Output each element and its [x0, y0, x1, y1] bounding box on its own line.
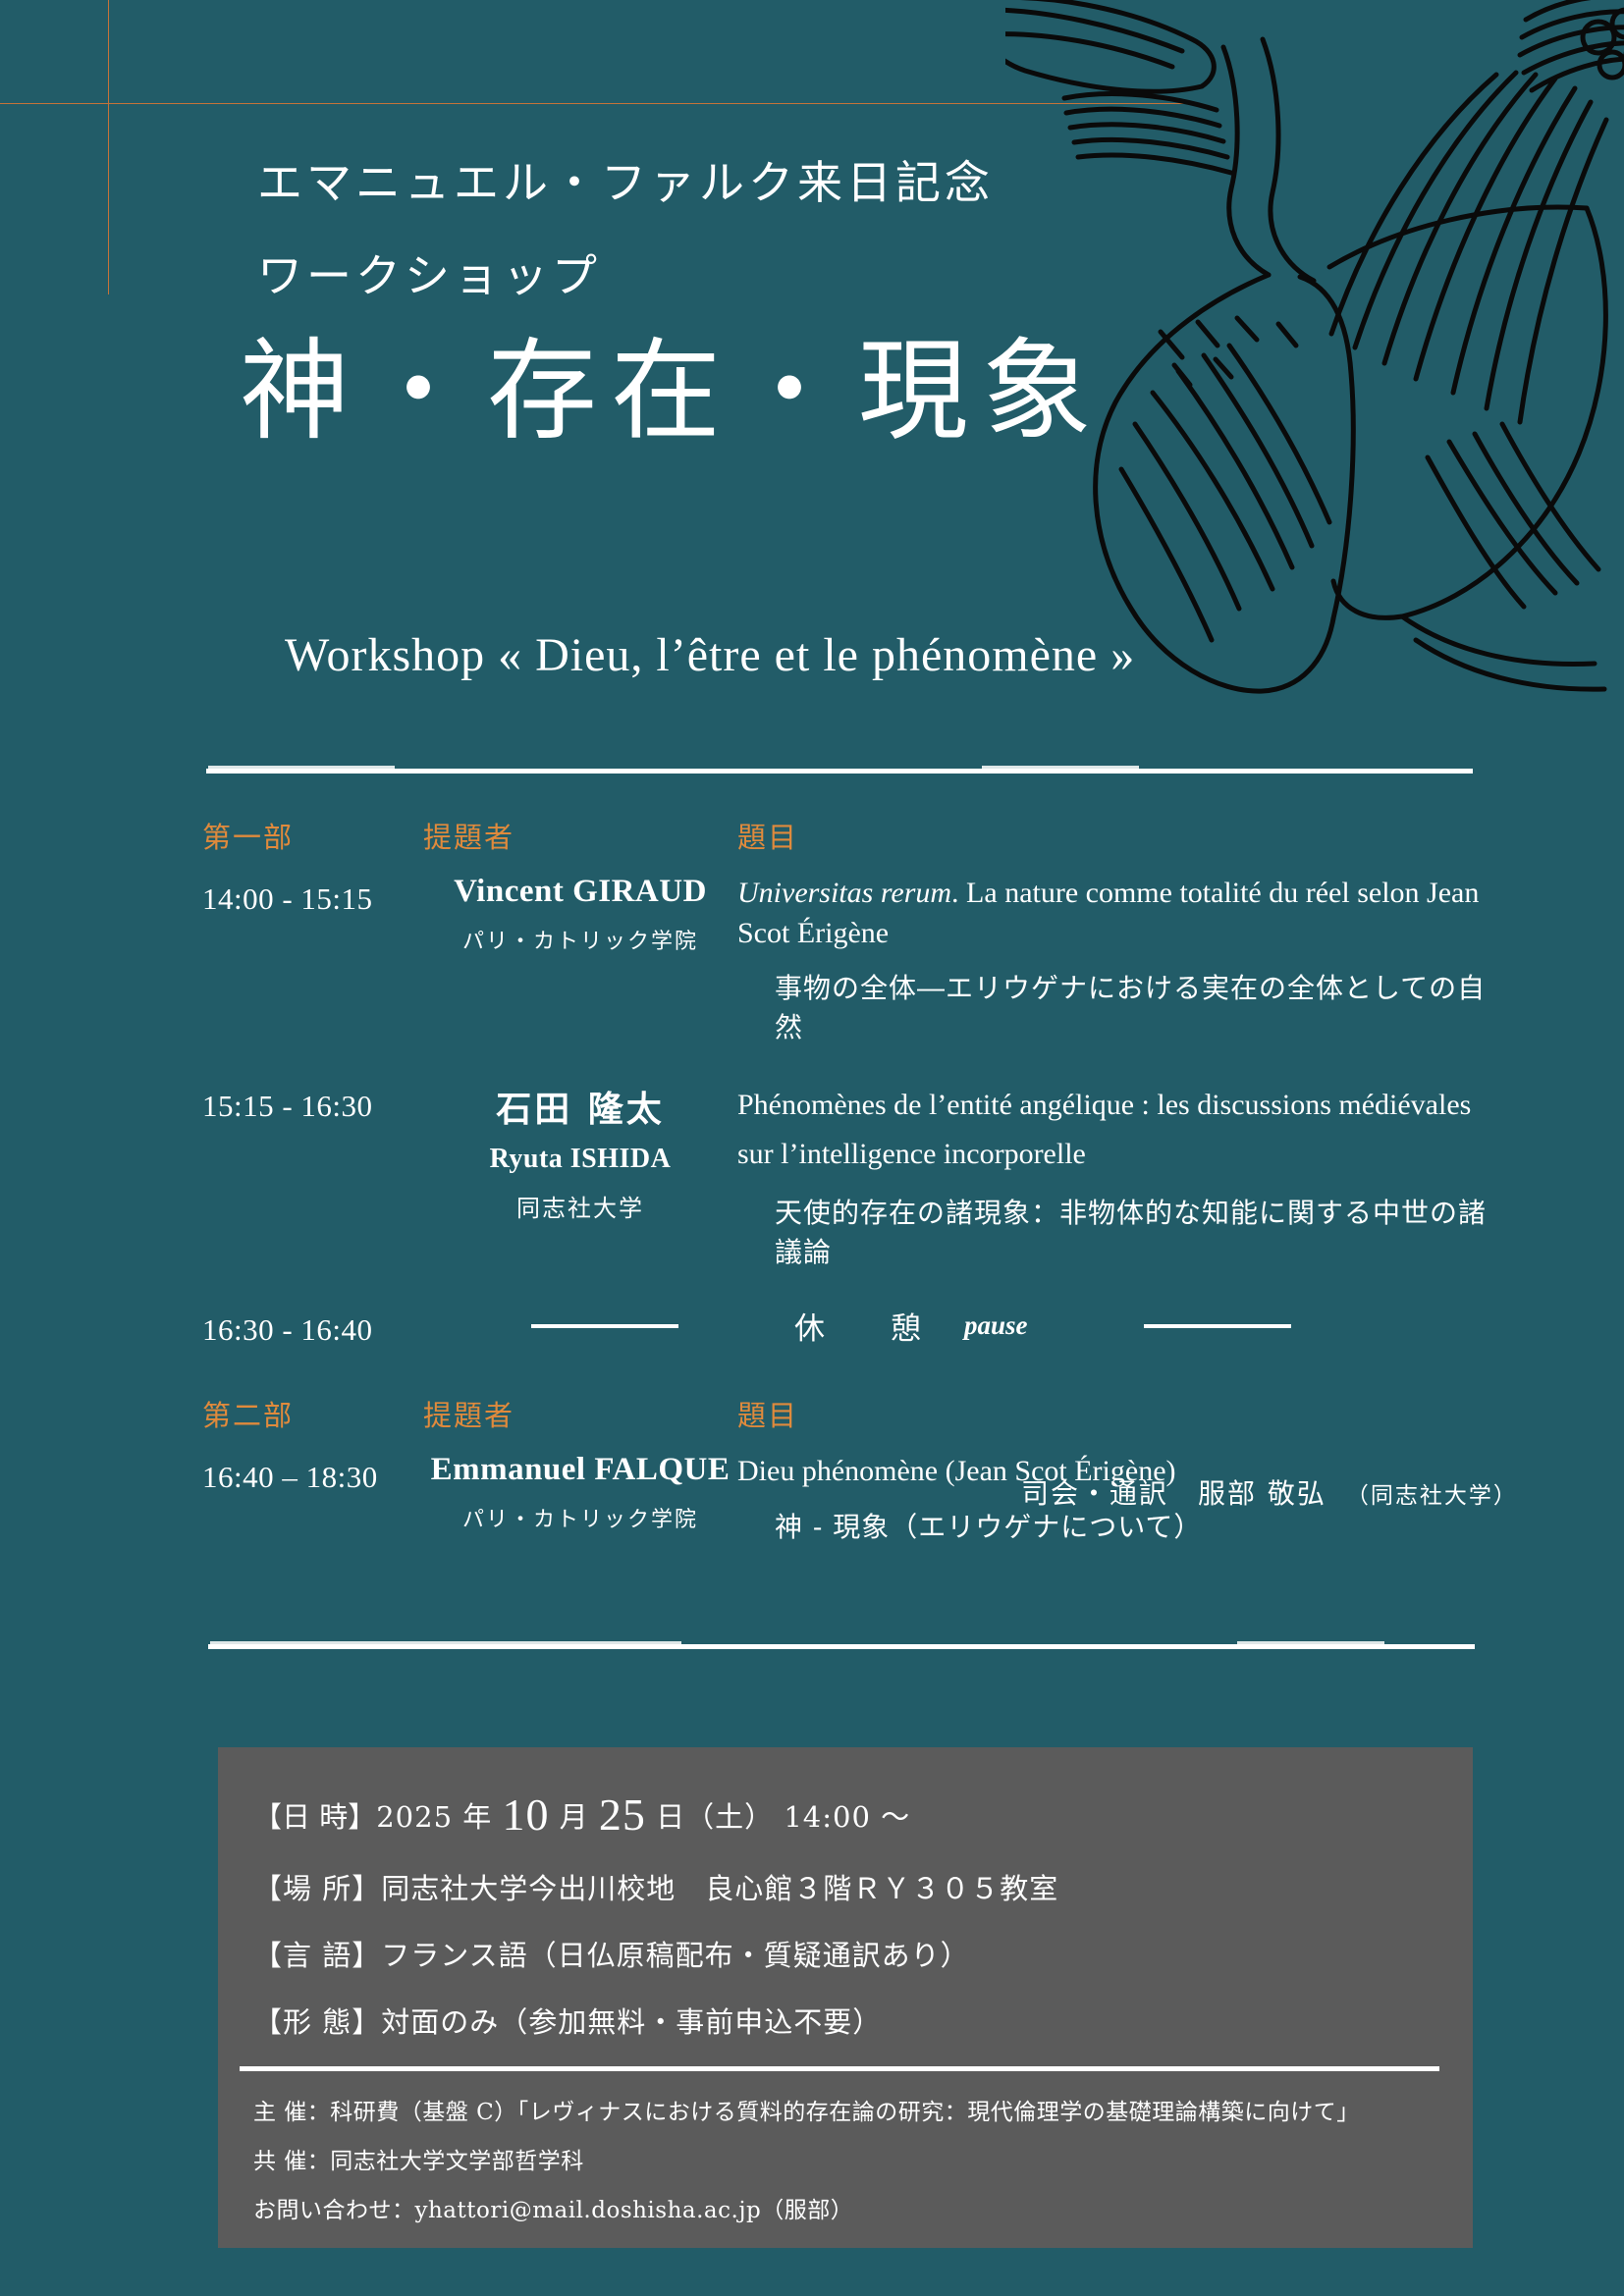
- column-header-part: 第二部: [202, 1393, 423, 1434]
- column-header-title: 題目: [737, 1393, 1498, 1434]
- subtitle-french: Workshop « Dieu, l’être et le phénomène …: [285, 628, 1135, 682]
- session-title-french: Universitas rerum. La nature comme total…: [737, 874, 1498, 953]
- header-kicker-line1: エマニュエル・ファルク来日記念: [257, 157, 1337, 209]
- divider-top: [206, 769, 1473, 774]
- pause-rule-right: [1144, 1324, 1291, 1328]
- session-title-japanese: 天使的存在の諸現象：非物体的な知能に関する中世の諸議論: [775, 1192, 1498, 1270]
- info-datetime-month: 10: [502, 1789, 549, 1840]
- session-title-french: Phénomènes de l’entité angélique : les d…: [737, 1081, 1498, 1178]
- session-time: 15:15 - 16:30: [202, 1081, 423, 1270]
- speaker-name: Vincent GIRAUD: [423, 874, 737, 910]
- info-language: 【言 語】フランス語（日仏原稿配布・質疑通訳あり）: [253, 1933, 1473, 1974]
- pause-label-japanese: 休 憩: [794, 1304, 939, 1348]
- info-datetime-month-unit: 月: [549, 1800, 598, 1834]
- guide-line-horizontal: [0, 103, 1193, 104]
- guide-line-vertical: [108, 0, 109, 294]
- info-venue: 【場 所】同志社大学今出川校地 良心館３階ＲＹ３０５教室: [253, 1866, 1473, 1907]
- table-row: 14:00 - 15:15 Vincent GIRAUD パリ・カトリック学院 …: [202, 874, 1498, 1045]
- session-time: 14:00 - 15:15: [202, 874, 423, 1045]
- moderator-affiliation: （同志社大学）: [1346, 1483, 1518, 1509]
- divider-bottom-accent-left: [210, 1641, 681, 1644]
- speaker-affiliation: 同志社大学: [423, 1189, 737, 1223]
- session-title-latin-phrase: Universitas rerum: [737, 877, 951, 909]
- moderator-role: 司会・通訳 服部 敬弘: [1021, 1477, 1326, 1510]
- speaker-name: Emmanuel FALQUE: [423, 1452, 737, 1488]
- pause-rule-left: [531, 1324, 678, 1328]
- column-header-speaker: 提題者: [423, 1393, 737, 1434]
- session-speaker: 石田 隆太 Ryuta ISHIDA 同志社大学: [423, 1081, 737, 1270]
- column-header-title: 題目: [737, 815, 1498, 856]
- divider-top-accent-left: [208, 766, 395, 769]
- pause-row: 16:30 - 16:40 休 憩 pause: [202, 1304, 1498, 1348]
- moderator-line: 司会・通訳 服部 敬弘（同志社大学）: [1021, 1472, 1518, 1512]
- info-format: 【形 態】対面のみ（参加無料・事前申込不要）: [253, 2000, 1473, 2041]
- info-co-organizer: 共 催：同志社大学文学部哲学科: [253, 2142, 1473, 2175]
- column-header-speaker: 提題者: [423, 815, 737, 856]
- header-block: エマニュエル・ファルク来日記念 ワークショップ 神・存在・現象: [257, 157, 1337, 456]
- session-title: Phénomènes de l’entité angélique : les d…: [737, 1081, 1498, 1270]
- session-speaker: Vincent GIRAUD パリ・カトリック学院: [423, 874, 737, 1045]
- table-row: 15:15 - 16:30 石田 隆太 Ryuta ISHIDA 同志社大学 P…: [202, 1081, 1498, 1270]
- divider-bottom: [208, 1644, 1475, 1649]
- speaker-affiliation: パリ・カトリック学院: [423, 1502, 737, 1533]
- pause-label-french: pause: [964, 1310, 1028, 1341]
- info-organizer: 主 催：科研費（基盤 C）「レヴィナスにおける質料的存在論の研究：現代倫理学の基…: [253, 2093, 1473, 2126]
- info-datetime-year: 2025 年: [376, 1800, 502, 1834]
- pause-time: 16:30 - 16:40: [202, 1305, 423, 1348]
- poster-root: エマニュエル・ファルク来日記念 ワークショップ 神・存在・現象 Workshop…: [0, 0, 1624, 2296]
- session-time: 16:40 – 18:30: [202, 1452, 423, 1545]
- info-box: 【日 時】2025 年 10 月 25 日（土） 14:00 ～ 【場 所】同志…: [218, 1747, 1473, 2248]
- info-datetime: 【日 時】2025 年 10 月 25 日（土） 14:00 ～: [253, 1789, 1473, 1841]
- info-datetime-day-rest: 日（土）: [646, 1800, 774, 1834]
- speaker-name-japanese: 石田 隆太: [423, 1081, 737, 1132]
- header-kicker-line2: ワークショップ: [257, 240, 1337, 305]
- programme-table: 第一部 提題者 題目 14:00 - 15:15 Vincent GIRAUD …: [202, 815, 1498, 1545]
- speaker-name-romaji: Ryuta ISHIDA: [423, 1144, 737, 1175]
- session-speaker: Emmanuel FALQUE パリ・カトリック学院: [423, 1452, 737, 1545]
- divider-top-accent-right: [982, 766, 1139, 769]
- divider-bottom-accent-right: [1237, 1641, 1384, 1644]
- info-contact: お問い合わせ：yhattori@mail.doshisha.ac.jp（服部）: [253, 2191, 1473, 2224]
- column-header-part: 第一部: [202, 815, 423, 856]
- info-datetime-label: 【日 時】: [253, 1800, 376, 1834]
- page-title: 神・存在・現象: [240, 327, 1337, 456]
- info-box-main: 【日 時】2025 年 10 月 25 日（土） 14:00 ～ 【場 所】同志…: [218, 1747, 1473, 2041]
- speaker-affiliation: パリ・カトリック学院: [423, 924, 737, 955]
- info-box-footer: 主 催：科研費（基盤 C）「レヴィナスにおける質料的存在論の研究：現代倫理学の基…: [218, 2071, 1473, 2224]
- programme-header-part1: 第一部 提題者 題目: [202, 815, 1498, 856]
- info-datetime-day: 25: [599, 1789, 646, 1840]
- session-title-japanese: 事物の全体―エリウゲナにおける実在の全体としての自然: [775, 967, 1498, 1045]
- programme-header-part2: 第二部 提題者 題目: [202, 1393, 1498, 1434]
- session-title: Universitas rerum. La nature comme total…: [737, 874, 1498, 1045]
- info-datetime-time: 14:00 ～: [774, 1800, 910, 1834]
